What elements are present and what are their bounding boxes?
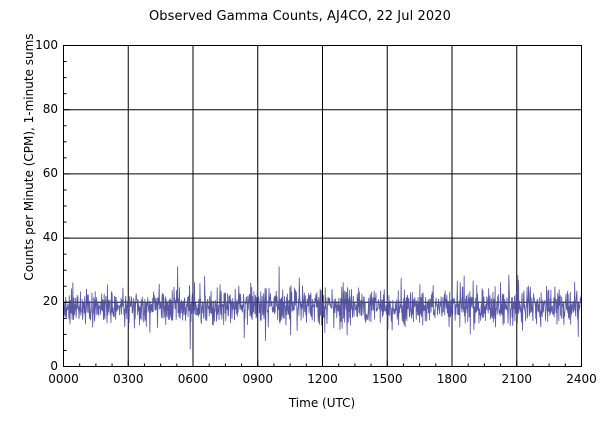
x-tick-label: 0000 xyxy=(34,372,94,386)
x-tick-label: 2400 xyxy=(552,372,600,386)
y-tick-label: 100 xyxy=(8,38,58,52)
gamma-counts-chart: Observed Gamma Counts, AJ4CO, 22 Jul 202… xyxy=(0,0,600,428)
y-tick-label: 20 xyxy=(8,294,58,308)
y-tick-label: 60 xyxy=(8,166,58,180)
x-tick-label: 1800 xyxy=(422,372,482,386)
x-tick-label: 0900 xyxy=(228,372,288,386)
x-tick-label: 0600 xyxy=(163,372,223,386)
plot-area xyxy=(0,0,600,428)
x-tick-label: 0300 xyxy=(98,372,158,386)
y-tick-label: 0 xyxy=(8,359,58,373)
x-tick-label: 1200 xyxy=(293,372,353,386)
y-tick-label: 80 xyxy=(8,102,58,116)
x-tick-label: 1500 xyxy=(357,372,417,386)
y-tick-label: 40 xyxy=(8,230,58,244)
x-tick-label: 2100 xyxy=(487,372,547,386)
